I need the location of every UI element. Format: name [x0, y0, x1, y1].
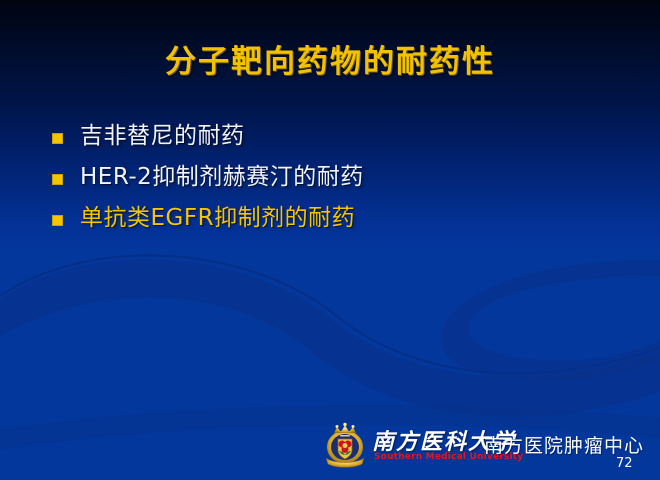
university-crest-icon — [320, 422, 370, 470]
bullet-square-icon — [52, 215, 63, 226]
bullet-text: 吉非替尼的耐药 — [80, 125, 245, 148]
cancer-center-name: 南方医院肿瘤中心 — [484, 431, 644, 458]
bullet-list: 吉非替尼的耐药 HER-2抑制剂赫赛汀的耐药 单抗类EGFR抑制剂的耐药 — [52, 116, 612, 239]
list-item: 吉非替尼的耐药 — [52, 116, 612, 157]
presentation-slide: 分子靶向药物的耐药性 吉非替尼的耐药 HER-2抑制剂赫赛汀的耐药 单抗类EGF… — [0, 0, 660, 480]
page-number: 72 — [616, 456, 633, 471]
bullet-square-icon — [52, 133, 63, 144]
list-item: HER-2抑制剂赫赛汀的耐药 — [52, 157, 612, 198]
slide-footer: 南方医科大学 Southern Medical University 南方医院肿… — [316, 418, 660, 480]
slide-title: 分子靶向药物的耐药性 — [0, 36, 660, 81]
list-item: 单抗类EGFR抑制剂的耐药 — [52, 198, 612, 239]
bullet-square-icon — [52, 174, 63, 185]
bullet-text: 单抗类EGFR抑制剂的耐药 — [80, 207, 355, 230]
bullet-text: HER-2抑制剂赫赛汀的耐药 — [80, 166, 364, 189]
